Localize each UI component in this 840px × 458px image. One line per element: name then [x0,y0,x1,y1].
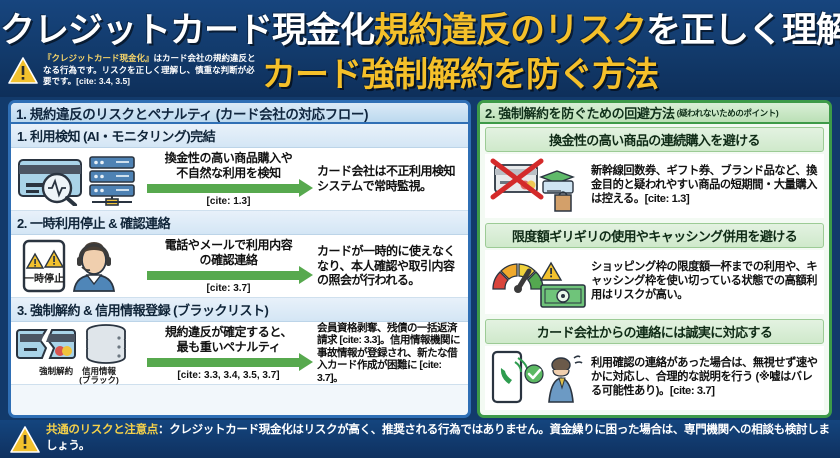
smartphone-alert-icon: 一時停止 [24,241,64,291]
prevention-tip-2: 限度額ギリギリの使用やキャッシング併用を避ける [480,220,829,316]
left-panel-heading: 1. 規約違反のリスクとペナルティ (カード会社の対応フロー) [11,103,468,124]
risk-step-2: 2. 一時利用停止 & 確認連絡 一時停止 [11,211,468,298]
warning-triangle-icon [8,57,38,84]
risk-step-3-title: 3. 強制解約 & 信用情報登録 (ブラックリスト) [11,298,468,322]
flow-arrow-2 [145,269,312,282]
icon-caption-forced-cancel: 強制解約 [39,367,73,385]
prevention-tip-3-title: カード会社からの連絡には誠実に対応する [485,319,824,344]
right-panel-heading: 2. 強制解約を防ぐための回避方法 (疑われないためのポイント) [480,103,829,124]
footer-notice: 共通のリスクと注意点：クレジットカード現金化はリスクが高く、推奨される行為ではあ… [0,420,840,458]
risk-step-1: 1. 利用検知 (AI・モニタリング)完結 [11,124,468,211]
no-card-shopping-icon [487,157,591,215]
risk-step-3: 3. 強制解約 & 信用情報登録 (ブラックリスト) [11,298,468,385]
flow-arrow-3 [145,356,312,369]
page-title-line2: カード強制解約を防ぐ方法 [262,47,782,96]
risk-step-1-title: 1. 利用検知 (AI・モニタリング)完結 [11,124,468,148]
flow-arrow-1 [145,182,312,195]
footer-rest: ：クレジットカード現金化はリスクが高く、推奨される行為ではありません。資金繰りに… [46,424,830,452]
risk-step-3-icon-captions: 強制解約 信用情報(ブラック) [39,367,119,385]
right-panel-heading-sub: (疑われないためのポイント) [677,107,779,119]
phone-call-bowing-person-icon [487,348,591,408]
page-title-line1: クレジットカード現金化規約違反のリスクを正しく理解！ [0,2,840,53]
footer-text: 共通のリスクと注意点：クレジットカード現金化はリスクが高く、推奨される行為ではあ… [46,423,830,454]
prevention-tip-1-text: 新幹線回数券、ギフト券、ブランド品など、換金目的と疑われやすい商品の短期間・大量… [591,165,822,207]
risk-step-2-outcome: カードが一時的に使えなくなり、本人確認や取引内容の照会が行われる。 [314,244,464,288]
prevention-tip-3-text: 利用確認の連絡があった場合は、無視せず速やかに対応し、合理的な説明を行う (※嘘… [591,357,822,399]
prevention-tip-2-title: 限度額ギリギリの使用やキャッシング併用を避ける [485,223,824,248]
risk-step-3-mid-text: 規約違反が確定すると、最も重いペナルティ [165,325,292,354]
prevention-tip-1: 換金性の高い商品の連続購入を避ける 新幹線回数券、 [480,124,829,220]
risk-step-1-outcome: カード会社は不正利用検知システムで常時監視。 [314,164,464,193]
title-part-post: を正しく理解！ [646,11,840,50]
risk-step-2-mid-text: 電話やメールで利用内容の確認連絡 [165,238,293,267]
risk-step-1-mid-text: 換金性の高い商品購入や不自然な利用を検知 [165,151,293,180]
risk-step-1-icons [15,152,143,206]
prevention-tip-3: カード会社からの連絡には誠実に対応する 利用確認の [480,316,829,412]
prevention-tip-1-title: 換金性の高い商品の連続購入を避ける [485,127,824,152]
title-part-highlight: 規約違反のリスク [374,11,646,50]
gauge-meter-cash-icon [487,253,591,311]
risk-step-3-icons: 強制解約 信用情報(ブラック) [15,322,143,385]
right-panel-prevention: 2. 強制解約を防ぐための回避方法 (疑われないためのポイント) 換金性の高い商… [477,100,832,418]
risk-step-3-outcome: 会員資格剥奪、残債の一括返済請求 [cite: 3.3]。信用情報機関に事故情報… [314,322,464,385]
risk-step-2-cite: [cite: 3.7] [207,283,251,294]
prevention-tip-2-text: ショッピング枠の限度額一杯までの利用や、キャッシング枠を使い切っている状態での高… [591,261,822,303]
broken-credit-card-icon [17,330,75,358]
left-panel-risks: 1. 規約違反のリスクとペナルティ (カード会社の対応フロー) 1. 利用検知 … [8,100,471,418]
warning-triangle-icon [10,426,40,453]
svg-text:一時停止: 一時停止 [24,272,64,285]
title-part-pre: クレジットカード現金化 [0,11,374,50]
right-panel-heading-main: 2. 強制解約を防ぐための回避方法 [485,103,675,122]
footer-emphasis: 共通のリスクと注意点 [46,424,158,436]
risk-step-2-icons: 一時停止 [15,238,143,294]
header-warning-emphasis: 『クレジットカード現金化』 [43,53,154,63]
database-stack-icon [87,325,125,363]
header-banner: クレジットカード現金化規約違反のリスクを正しく理解！ カード強制解約を防ぐ方法 … [0,0,840,97]
risk-step-3-cite: [cite: 3.3, 3.4, 3.5, 3.7] [177,370,279,381]
risk-step-1-cite: [cite: 1.3] [207,196,251,207]
server-rack-icon [90,157,134,205]
icon-caption-credit-info: 信用情報(ブラック) [79,367,119,385]
credit-card-magnifier-icon [19,160,81,205]
header-warning-text: 『クレジットカード現金化』はカード会社の規約違反となる行為です。リスクを正しく理… [43,53,258,87]
call-center-operator-icon [74,242,114,291]
header-warning-note: 『クレジットカード現金化』はカード会社の規約違反となる行為です。リスクを正しく理… [8,48,258,93]
risk-step-2-title: 2. 一時利用停止 & 確認連絡 [11,211,468,235]
